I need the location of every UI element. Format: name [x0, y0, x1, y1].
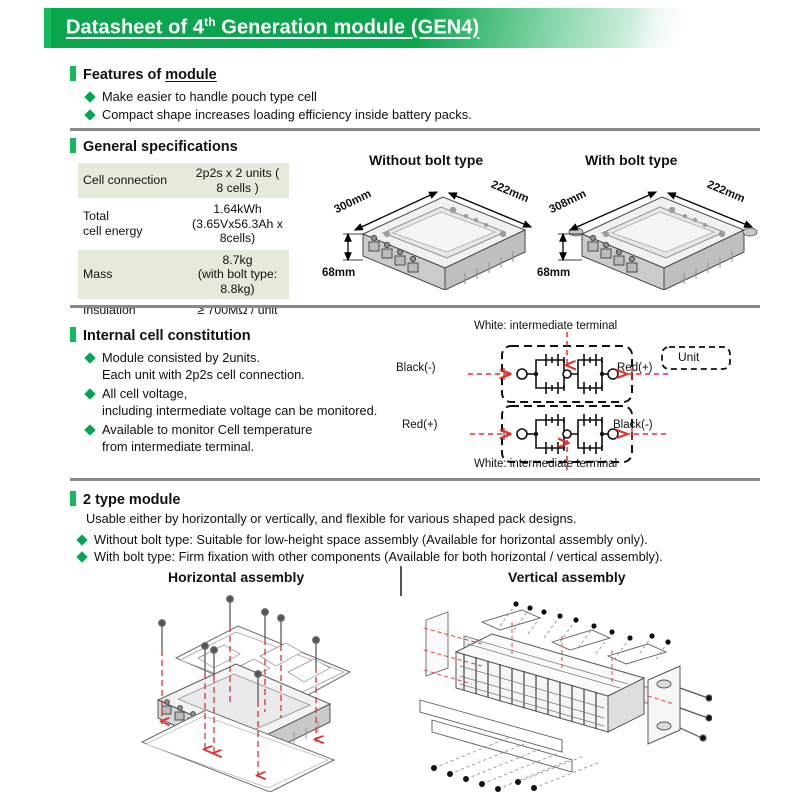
spec-key-line2: cell energy — [83, 224, 142, 238]
figure-caption-without-bolt: Without bolt type — [369, 152, 483, 168]
divider-after-features — [70, 128, 760, 131]
spec-value-line2: (3.65Vx56.3Ah x 8cells) — [192, 217, 283, 246]
spec-key-line1: Total — [83, 209, 109, 223]
diamond-bullet-icon — [84, 388, 95, 399]
internal-bullet-3: Available to monitor Cell temperature fr… — [86, 422, 312, 455]
page-title-pre: Datasheet of 4 — [66, 17, 204, 39]
diamond-bullet-icon — [76, 551, 87, 562]
dimension-label-height-without-bolt: 68mm — [322, 267, 355, 279]
divider-after-internal-cell — [70, 478, 760, 481]
page-title-sup: th — [204, 15, 216, 29]
table-row: Cell connection 2p2s x 2 units ( 8 cells… — [78, 163, 289, 199]
dimension-label-height-with-bolt: 68mm — [537, 267, 570, 279]
two-type-bullet-1-text: Without bolt type: Suitable for low-heig… — [94, 532, 648, 547]
section-heading-general-specs: General specifications — [70, 138, 238, 155]
heading-accent-icon — [70, 138, 76, 153]
features-heading-pre: Features of — [83, 67, 165, 83]
internal-bullet-3-line2: from intermediate terminal. — [102, 439, 312, 456]
heading-accent-icon — [70, 491, 76, 506]
section-heading-two-type: 2 type module — [70, 491, 181, 508]
internal-bullet-2: All cell voltage, including intermediate… — [86, 386, 377, 419]
page-title-bar: Datasheet of 4th Generation module (GEN4… — [44, 8, 756, 48]
internal-bullet-1-line1: Module consisted by 2units. — [102, 350, 260, 365]
two-type-bullet-2: With bolt type: Firm fixation with other… — [78, 549, 663, 566]
vertical-assembly-illustration — [412, 592, 712, 792]
two-type-bullet-1: Without bolt type: Suitable for low-heig… — [78, 532, 648, 549]
internal-bullet-1: Module consisted by 2units. Each unit wi… — [86, 350, 305, 383]
two-type-heading: 2 type module — [83, 492, 181, 508]
internal-bullet-1-line2: Each unit with 2p2s cell connection. — [102, 367, 305, 384]
table-row: Insulation ≥ 700MΩ / unit — [78, 300, 289, 322]
spec-value-line2: (with bolt type: 8.8kg) — [198, 267, 277, 296]
feature-bullet-1-text: Make easier to handle pouch type cell — [102, 89, 317, 104]
diamond-bullet-icon — [76, 534, 87, 545]
general-specifications-table: Cell connection 2p2s x 2 units ( 8 cells… — [78, 163, 289, 322]
horizontal-assembly-illustration — [120, 592, 410, 792]
figure-caption-with-bolt: With bolt type — [585, 152, 677, 168]
assembly-caption-horizontal: Horizontal assembly — [168, 569, 304, 585]
features-heading-underlined: module — [165, 67, 217, 83]
feature-bullet-1: Make easier to handle pouch type cell — [86, 89, 317, 106]
circuit-label-unit1-left: Black(-) — [396, 362, 436, 374]
spec-value-insulation: ≥ 700MΩ / unit — [186, 300, 289, 322]
internal-bullet-3-line1: Available to monitor Cell temperature — [102, 422, 312, 437]
diamond-bullet-icon — [84, 109, 95, 120]
heading-accent-icon — [70, 66, 76, 81]
assembly-caption-vertical: Vertical assembly — [508, 569, 626, 585]
heading-accent-icon — [70, 327, 76, 342]
two-type-bullet-2-text: With bolt type: Firm fixation with other… — [94, 549, 663, 564]
spec-value-line1: 8.7kg — [222, 253, 252, 267]
feature-bullet-2: Compact shape increases loading efficien… — [86, 107, 472, 124]
section-heading-features: Features of module — [70, 66, 217, 83]
internal-bullet-2-line2: including intermediate voltage can be mo… — [102, 403, 377, 420]
spec-value-mass: 8.7kg (with bolt type: 8.8kg) — [186, 249, 289, 300]
diamond-bullet-icon — [84, 352, 95, 363]
table-row: Total cell energy 1.64kWh (3.65Vx56.3Ah … — [78, 199, 289, 250]
datasheet-page: Datasheet of 4th Generation module (GEN4… — [0, 0, 800, 800]
spec-key-cell-connection: Cell connection — [78, 163, 186, 199]
spec-key-insulation: Insulation — [78, 300, 186, 322]
internal-bullet-2-line1: All cell voltage, — [102, 386, 187, 401]
divider-after-specs — [70, 305, 760, 308]
diamond-bullet-icon — [84, 424, 95, 435]
spec-key-total-cell-energy: Total cell energy — [78, 199, 186, 250]
table-row: Mass 8.7kg (with bolt type: 8.8kg) — [78, 249, 289, 300]
internal-cell-heading: Internal cell constitution — [83, 328, 251, 344]
section-heading-internal-cell: Internal cell constitution — [70, 327, 251, 344]
spec-value-cell-connection: 2p2s x 2 units ( 8 cells ) — [186, 163, 289, 199]
diamond-bullet-icon — [84, 91, 95, 102]
spec-key-mass: Mass — [78, 249, 186, 300]
page-title-post: Generation module (GEN4) — [216, 17, 480, 39]
page-title: Datasheet of 4th Generation module (GEN4… — [66, 15, 479, 40]
spec-value-total-cell-energy: 1.64kWh (3.65Vx56.3Ah x 8cells) — [186, 199, 289, 250]
unit-legend-label: Unit — [678, 350, 699, 364]
spec-value-line1: 1.64kWh — [213, 202, 262, 216]
two-type-intro: Usable either by horizontally or vertica… — [86, 511, 577, 526]
title-accent-bar — [44, 8, 51, 48]
circuit-label-unit2-left: Red(+) — [402, 419, 437, 431]
general-specs-heading: General specifications — [83, 139, 238, 155]
feature-bullet-2-text: Compact shape increases loading efficien… — [102, 107, 472, 122]
